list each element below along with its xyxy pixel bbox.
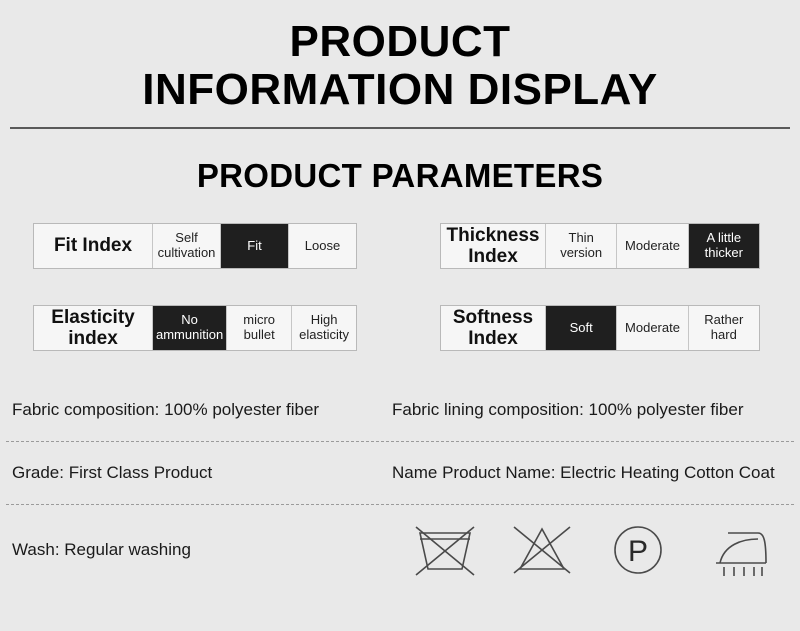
param-option-no-ammunition[interactable]: No ammunition: [152, 306, 226, 350]
product-info-block: Fabric composition: 100% polyester fiber…: [0, 379, 800, 595]
care-symbols-group: P: [412, 519, 788, 581]
param-option-soft[interactable]: Soft: [545, 306, 616, 350]
param-option-moderate-thickness[interactable]: Moderate: [616, 224, 687, 268]
param-option-loose[interactable]: Loose: [288, 224, 356, 268]
param-table-fit-index: Fit Index Self cultivation Fit Loose: [33, 223, 357, 269]
param-option-fit[interactable]: Fit: [220, 224, 288, 268]
param-option-thin-version[interactable]: Thin version: [545, 224, 616, 268]
dry-clean-p-icon: P: [605, 519, 671, 581]
info-row-fabric-composition: Fabric composition: 100% polyester fiber…: [0, 379, 800, 441]
page-header: PRODUCT INFORMATION DISPLAY: [0, 0, 800, 113]
param-table-softness-index: Softness Index Soft Moderate Rather hard: [440, 305, 760, 351]
param-table-elasticity-index: Elasticity index No ammunition micro bul…: [33, 305, 357, 351]
info-row-grade-and-name: Grade: First Class Product Name Product …: [0, 442, 800, 504]
param-label-elasticity-index: Elasticity index: [34, 306, 152, 350]
param-option-high-elasticity[interactable]: High elasticity: [291, 306, 356, 350]
steam-iron-icon: [702, 519, 774, 581]
fabric-composition-text: Fabric composition: 100% polyester fiber: [12, 400, 392, 420]
do-not-bleach-icon: [509, 519, 575, 581]
param-table-thickness-index: Thickness Index Thin version Moderate A …: [440, 223, 760, 269]
param-option-micro-bullet[interactable]: micro bullet: [226, 306, 291, 350]
param-label-softness-index: Softness Index: [441, 306, 545, 350]
do-not-wash-icon: [412, 519, 478, 581]
dry-clean-letter: P: [628, 535, 648, 568]
care-instructions-row: Wash: Regular washing: [0, 505, 800, 595]
product-name-text: Name Product Name: Electric Heating Cott…: [392, 463, 788, 483]
page-title-line-1: PRODUCT: [0, 18, 800, 66]
page-title-line-2: INFORMATION DISPLAY: [0, 66, 800, 114]
section-title-product-parameters: PRODUCT PARAMETERS: [0, 157, 800, 195]
title-divider: [10, 127, 790, 129]
param-option-rather-hard[interactable]: Rather hard: [688, 306, 759, 350]
param-label-thickness-index: Thickness Index: [441, 224, 545, 268]
param-option-moderate-softness[interactable]: Moderate: [616, 306, 687, 350]
param-option-a-little-thicker[interactable]: A little thicker: [688, 224, 759, 268]
fabric-lining-composition-text: Fabric lining composition: 100% polyeste…: [392, 400, 788, 420]
wash-instruction-text: Wash: Regular washing: [12, 540, 412, 560]
parameter-tables: Fit Index Self cultivation Fit Loose Thi…: [0, 223, 800, 373]
param-label-fit-index: Fit Index: [34, 224, 152, 268]
param-option-self-cultivation[interactable]: Self cultivation: [152, 224, 220, 268]
grade-text: Grade: First Class Product: [12, 463, 392, 483]
